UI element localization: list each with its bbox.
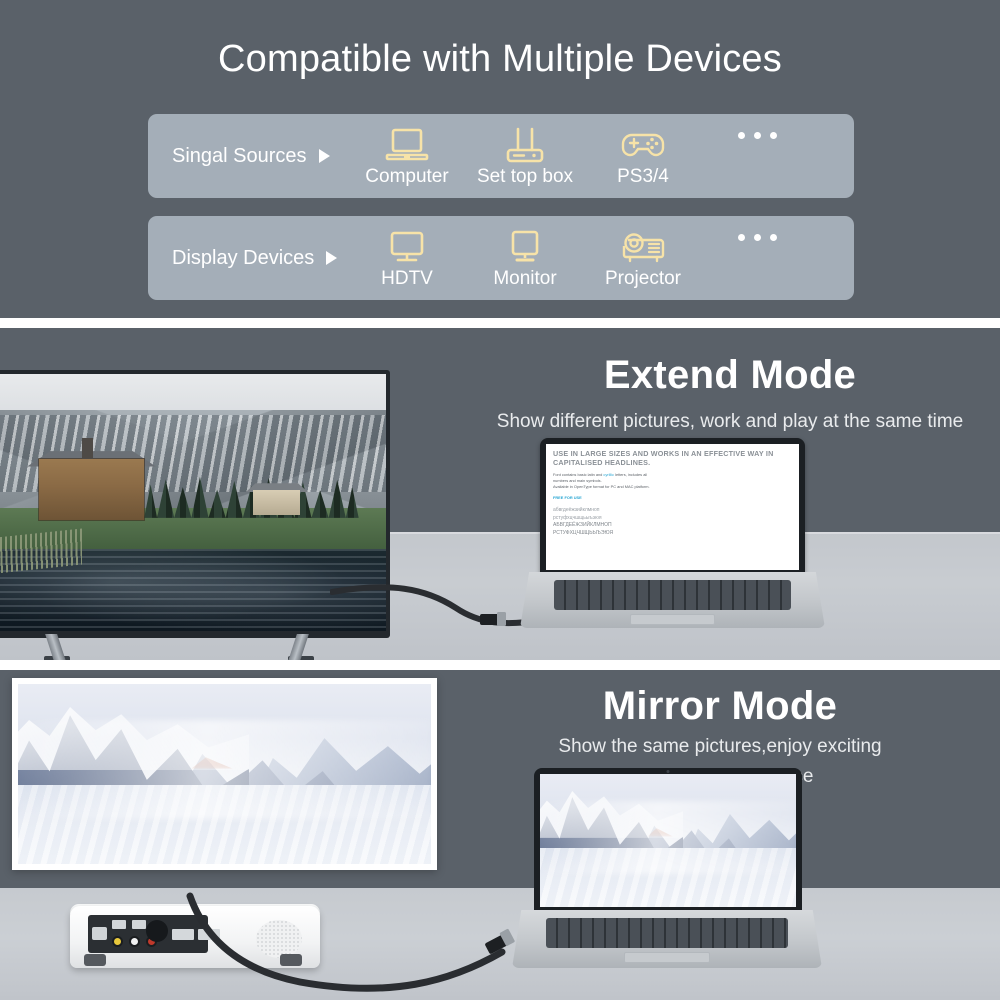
product-infographic: Compatible with Multiple Devices Singal …	[0, 0, 1000, 1000]
usb-port	[132, 920, 146, 929]
specimen-cyrillic-word: cyrillic	[603, 472, 614, 477]
laptop-keyboard[interactable]	[546, 918, 788, 948]
device-projector[interactable]: Projector	[584, 228, 702, 289]
dot	[754, 234, 761, 241]
device-monitor[interactable]: Monitor	[466, 228, 584, 289]
triangle-right-icon	[326, 251, 337, 265]
device-label: Projector	[605, 269, 681, 289]
gamepad-icon	[617, 126, 669, 166]
mirror-mode-section: Mirror Mode Show the same pictures,enjoy…	[0, 670, 1000, 1000]
device-hdtv[interactable]: HDTV	[348, 228, 466, 289]
laptop-base	[520, 572, 825, 628]
chalet-landscape-image	[0, 374, 386, 631]
rca-video-yellow	[112, 936, 123, 947]
laptop-lid	[534, 768, 802, 916]
specimen-body-line-1: Font contains basic latin and	[553, 472, 603, 477]
laptop-trackpad[interactable]	[630, 614, 715, 625]
hdtv-icon	[383, 228, 431, 268]
tv-screen	[0, 374, 386, 631]
device-label: Computer	[365, 167, 448, 187]
signal-device-list: Computer Set top box	[348, 126, 854, 187]
display-devices-label: Display Devices	[172, 247, 314, 270]
page-title: Compatible with Multiple Devices	[0, 0, 1000, 81]
dot	[770, 132, 777, 139]
laptop-icon	[383, 126, 431, 166]
snow-mountain-image	[18, 684, 431, 864]
dot	[738, 132, 745, 139]
triangle-right-icon	[319, 149, 330, 163]
font-specimen-page: USE IN LARGE SIZES AND WORKS IN AN EFFEC…	[546, 444, 799, 570]
more-devices-ellipsis-signal	[702, 126, 812, 139]
dot	[770, 234, 777, 241]
laptop-screen-extend: USE IN LARGE SIZES AND WORKS IN AN EFFEC…	[546, 444, 799, 570]
laptop-trackpad[interactable]	[624, 952, 711, 963]
alphabet-upper-1: АБВГДЕЁЖЗИЙКЛМНОП	[553, 522, 612, 528]
router-icon	[501, 126, 549, 166]
specimen-body-line-2: numbers and main symbols.	[553, 478, 602, 483]
specimen-body: Font contains basic latin and cyrillic l…	[553, 472, 792, 490]
laptop-device-extend: USE IN LARGE SIZES AND WORKS IN AN EFFEC…	[520, 438, 825, 628]
compatibility-section: Compatible with Multiple Devices Singal …	[0, 0, 1000, 318]
section-divider	[0, 318, 1000, 328]
projector-foot	[84, 954, 106, 966]
device-label: Monitor	[493, 269, 556, 289]
dot	[738, 234, 745, 241]
device-label: HDTV	[381, 269, 433, 289]
snow-mountain-image-mirrored	[540, 774, 796, 907]
device-label: Set top box	[477, 167, 573, 187]
mirror-mode-title: Mirror Mode	[510, 684, 930, 729]
laptop-device-mirror	[512, 768, 822, 968]
display-device-list: HDTV Monitor	[348, 228, 854, 289]
signal-sources-label: Singal Sources	[172, 145, 307, 168]
dot	[754, 132, 761, 139]
webcam-icon	[667, 770, 670, 773]
device-ps34[interactable]: PS3/4	[584, 126, 702, 187]
section-divider	[0, 660, 1000, 670]
extend-mode-title: Extend Mode	[470, 353, 990, 398]
laptop-base	[512, 910, 822, 968]
projector-icon	[616, 228, 670, 268]
mirror-mode-subtitle-line-1: Show the same pictures,enjoy exciting	[510, 735, 930, 759]
extend-mode-section: Extend Mode Show different pictures, wor…	[0, 328, 1000, 660]
more-devices-ellipsis-display	[702, 228, 812, 241]
usb-port	[112, 920, 126, 929]
laptop-keyboard[interactable]	[554, 580, 792, 610]
specimen-body-line-1-end: letters, includes all	[614, 472, 647, 477]
laptop-screen-mirror	[540, 774, 796, 907]
display-devices-panel: Display Devices HDTV	[148, 216, 854, 300]
laptop-lid: USE IN LARGE SIZES AND WORKS IN AN EFFEC…	[540, 438, 805, 578]
alphabet-lower-1: абвгдеёжзийклмноп	[553, 507, 599, 513]
display-devices-label-group: Display Devices	[148, 247, 348, 270]
projected-image	[18, 684, 431, 864]
projection-screen	[12, 678, 437, 870]
device-computer[interactable]: Computer	[348, 126, 466, 187]
signal-sources-panel: Singal Sources Computer	[148, 114, 854, 198]
extend-mode-text-block: Extend Mode Show different pictures, wor…	[470, 353, 990, 434]
signal-sources-label-group: Singal Sources	[148, 145, 348, 168]
specimen-body-line-3: Available in OpenType format for PC and …	[553, 484, 650, 489]
rca-audio-white	[129, 936, 140, 947]
hdmi-cable-extend	[330, 578, 545, 638]
specimen-free-tag: FREE FOR USE	[553, 495, 792, 500]
power-socket	[92, 927, 107, 940]
device-label: PS3/4	[617, 167, 669, 187]
hdmi-cable-mirror	[150, 890, 550, 1000]
specimen-headline: USE IN LARGE SIZES AND WORKS IN AN EFFEC…	[553, 449, 792, 467]
extend-mode-subtitle: Show different pictures, work and play a…	[470, 410, 990, 434]
alphabet-lower-2: рстуфхцчшщьыъэюя	[553, 515, 602, 521]
specimen-alphabet: абвгдеёжзийклмноп рстуфхцчшщьыъэюя АБВГД…	[553, 507, 792, 537]
alphabet-upper-2: РСТУФХЦЧШЩЬЫЪЭЮЯ	[553, 530, 613, 536]
monitor-icon	[501, 228, 549, 268]
device-set-top-box[interactable]: Set top box	[466, 126, 584, 187]
